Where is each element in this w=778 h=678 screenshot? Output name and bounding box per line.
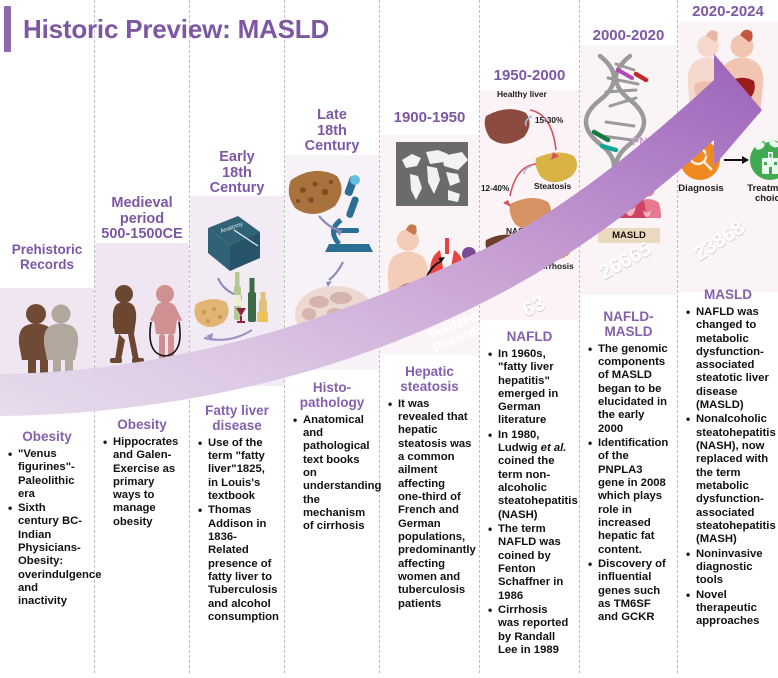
dna-helix-genes-population-illustration: PNPLA3 M6SF GCKR MASLD <box>580 50 677 265</box>
gene-label-m6sf: M6SF <box>632 150 661 163</box>
timeline-columns: Prehistoric Records Obesity <box>0 0 778 673</box>
list-item: In 1980, Ludwig et al. coined the term n… <box>487 429 572 522</box>
node-label-cirrhosis: Cirrhosis <box>537 262 574 271</box>
edge-value-cirrhosis-to-hcc: 7% <box>524 240 536 249</box>
column-body-1900-1950: Hepatic steatosis It was revealed that h… <box>380 365 479 612</box>
body-title: NAFLD-MASLD <box>587 310 670 340</box>
list-item: Identification of the PNPLA3 gene in 200… <box>587 437 670 557</box>
page-title-bar: Historic Preview: MASLD <box>0 6 329 52</box>
circle-label-diagnosis: Diagnosis <box>678 184 724 194</box>
body-title: NAFLD <box>487 330 572 345</box>
page-title: Historic Preview: MASLD <box>23 14 329 45</box>
timeline-column-late-18th[interactable]: Late 18th Century <box>285 0 380 673</box>
bullet-list: Hippocrates and Galen- Exercise as prima… <box>102 436 182 529</box>
body-title: Fatty liver disease <box>197 404 277 434</box>
column-body-1950-2000: NAFLD In 1960s, "fatty liver hepatitis" … <box>480 330 579 658</box>
liver-microscope-tissue-illustration <box>285 158 379 363</box>
column-header-prehistoric: Prehistoric Records <box>0 243 94 272</box>
bullet-list: NAFLD was changed to metabolic dysfuncti… <box>685 306 771 629</box>
node-label-steatosis: Steatosis <box>534 182 571 191</box>
liver-disease-progression-diagram: Healthy liver Steatosis NASH/ MASH Cirrh… <box>480 92 579 282</box>
column-body-prehistoric: Obesity "Venus figurines"- Paleolithic e… <box>0 430 94 610</box>
column-header-2020-2024: 2020-2024 <box>678 4 778 20</box>
node-label-healthy-liver: Healthy liver <box>497 90 547 99</box>
body-title: Hepatic steatosis <box>387 365 472 395</box>
column-body-2020-2024: MASLD NAFLD was changed to metabolic dys… <box>678 288 778 630</box>
list-item: Use of the term "fatty liver"1825, in Lo… <box>197 437 277 504</box>
bullet-list: The genomic components of MASLD began to… <box>587 343 670 625</box>
timeline-column-early-18th[interactable]: Early 18th Century Anatomy <box>190 0 285 673</box>
list-item: Discovery of influential genes such as T… <box>587 558 670 625</box>
timeline-column-1900-1950[interactable]: 1900-1950 <box>380 0 480 673</box>
two-obese-figures-illustration <box>0 292 94 392</box>
diagnosis-circle <box>680 140 720 180</box>
timeline-column-medieval[interactable]: Medieval period 500-1500CE <box>95 0 190 673</box>
anatomy-book-liver-alcohol-illustration: Anatomy <box>190 200 284 360</box>
column-header-early-18th: Early 18th Century <box>190 150 284 197</box>
list-item: NAFLD was changed to metabolic dysfuncti… <box>685 306 771 413</box>
list-item: Hippocrates and Galen- Exercise as prima… <box>102 436 182 529</box>
timeline-column-1950-2000[interactable]: 1950-2000 <box>480 0 580 673</box>
world-map-and-patient-lungs-liver-illustration <box>380 138 479 348</box>
column-header-medieval: Medieval period 500-1500CE <box>95 196 189 243</box>
gene-label-gckr: GCKR <box>632 164 664 177</box>
list-item: Thomas Addison in 1836- Related presence… <box>197 504 277 624</box>
timeline-column-2000-2020[interactable]: 2000-2020 <box>580 0 678 673</box>
bullet-list: Use of the term "fatty liver"1825, in Lo… <box>197 437 277 625</box>
patients-diagnosis-treatment-illustration: Diagnosis Treatment choice <box>678 24 778 224</box>
column-body-2000-2020: NAFLD-MASLD The genomic components of MA… <box>580 310 677 626</box>
list-item: Anatomical and pathological text books o… <box>292 414 372 534</box>
gene-label-pnpla3: PNPLA3 <box>632 136 675 149</box>
node-label-hcc: HCC <box>498 264 516 273</box>
body-title: MASLD <box>685 288 771 303</box>
masld-population-chip: MASLD <box>598 228 660 243</box>
bullet-list: It was revealed that hepatic steatosis w… <box>387 398 472 611</box>
bullet-list: In 1960s, "fatty liver hepatitis" emerge… <box>487 348 572 658</box>
body-title: Histo-pathology <box>292 381 372 411</box>
list-item: "Venus figurines"- Paleolithic era <box>7 448 87 501</box>
column-body-late-18th: Histo-pathology Anatomical and pathologi… <box>285 381 379 535</box>
column-header-2000-2020: 2000-2020 <box>580 28 677 44</box>
list-item: The term NAFLD was coined by Fenton Scha… <box>487 523 572 603</box>
column-header-1950-2000: 1950-2000 <box>480 68 579 84</box>
column-body-early-18th: Fatty liver disease Use of the term "fat… <box>190 404 284 625</box>
edge-value-nash-to-cirrhosis: 15-25% <box>542 219 570 228</box>
body-title: Obesity <box>102 418 182 433</box>
column-header-late-18th: Late 18th Century <box>285 108 379 155</box>
list-item: Sixth century BC- Indian Physicians- Obe… <box>7 502 87 609</box>
edge-value-steatosis-to-nash: 12-40% <box>481 184 509 193</box>
circle-label-treatment-choice: Treatment choice <box>744 184 778 205</box>
timeline-column-2020-2024[interactable]: 2020-2024 <box>678 0 778 673</box>
bullet-list: Anatomical and pathological text books o… <box>292 414 372 534</box>
body-title: Obesity <box>7 430 87 445</box>
bullet-list: "Venus figurines"- Paleolithic era Sixth… <box>7 448 87 609</box>
list-item: In 1960s, "fatty liver hepatitis" emerge… <box>487 348 572 428</box>
list-item: Cirrhosis was reported by Randall Lee in… <box>487 604 572 657</box>
walking-and-jump-rope-figures-illustration <box>95 278 189 388</box>
column-header-1900-1950: 1900-1950 <box>380 110 479 126</box>
list-item: The genomic components of MASLD began to… <box>587 343 670 436</box>
timeline-column-prehistoric[interactable]: Prehistoric Records Obesity <box>0 0 95 673</box>
edge-value-healthy-to-steatosis: 15-30% <box>535 116 563 125</box>
column-body-medieval: Obesity Hippocrates and Galen- Exercise … <box>95 418 189 530</box>
list-item: Novel therapeutic approaches <box>685 589 771 629</box>
title-accent-rule <box>4 6 11 52</box>
list-item: It was revealed that hepatic steatosis w… <box>387 398 472 611</box>
list-item: Noninvasive diagnostic tools <box>685 548 771 588</box>
list-item: Nonalcoholic steatohepatitis (NASH), now… <box>685 413 771 546</box>
